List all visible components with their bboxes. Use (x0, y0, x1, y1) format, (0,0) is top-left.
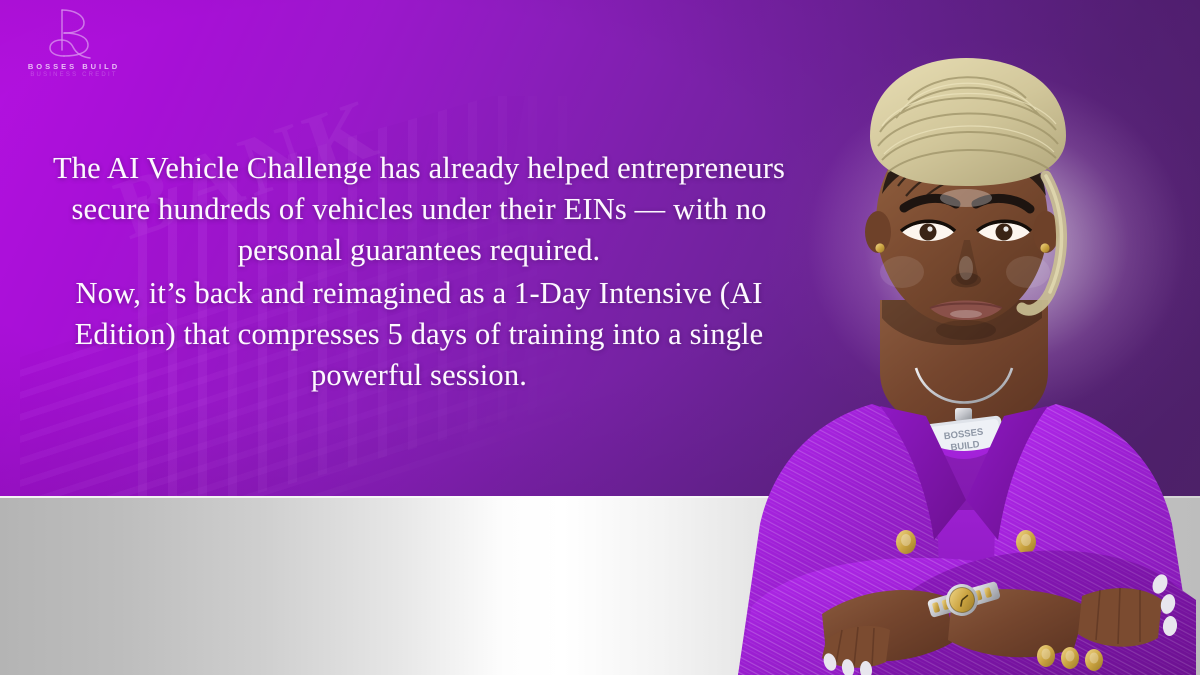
brand-name-primary: BOSSES BUILD (14, 62, 134, 71)
b-monogram-icon (40, 6, 102, 62)
brand-name-secondary: BUSINESS CREDIT (14, 72, 134, 78)
subject-photo: BOSSES BUILD BIZ CREDIT (730, 0, 1200, 675)
headline-paragraph-2: Now, it’s back and reimagined as a 1-Day… (34, 273, 804, 396)
earring-right (1040, 243, 1049, 252)
headline-copy: The AI Vehicle Challenge has already hel… (34, 148, 804, 396)
promotional-slide: BANK BOSSES BUILD BUSINESS CREDIT The AI… (0, 0, 1200, 675)
brand-logo[interactable]: BOSSES BUILD BUSINESS CREDIT (14, 6, 134, 80)
headline-paragraph-1: The AI Vehicle Challenge has already hel… (34, 148, 804, 271)
earring-left (875, 243, 884, 252)
